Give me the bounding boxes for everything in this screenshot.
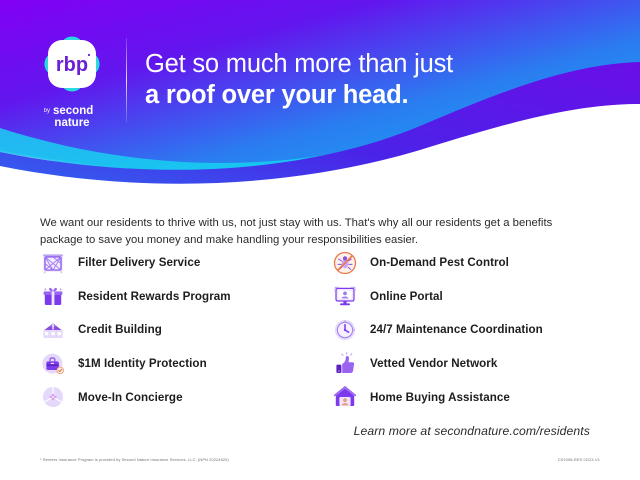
- benefit-label: Credit Building: [78, 323, 162, 336]
- benefit-filter-delivery-service: Filter Delivery Service: [40, 246, 332, 280]
- benefit-identity-protection: $1M Identity Protection: [40, 347, 332, 381]
- hero-divider: [126, 38, 127, 122]
- flyer-page: rbp by second nature Get so much more th…: [0, 0, 640, 480]
- rbp-badge-icon: rbp: [39, 31, 105, 97]
- headline-line-2: a roof over your head.: [145, 80, 453, 111]
- benefits-grid: Filter Delivery Service On-Demand Pest C…: [40, 246, 600, 414]
- footer-doc-code: CS1008-RES 02/24 V1: [558, 457, 600, 462]
- rbp-logo: rbp by second nature: [22, 31, 122, 129]
- intro-paragraph: We want our residents to thrive with us,…: [40, 215, 592, 249]
- benefit-label: Move-In Concierge: [78, 391, 183, 404]
- benefit-resident-rewards-program: Resident Rewards Program: [40, 280, 332, 314]
- hero-headline: Get so much more than just a roof over y…: [145, 49, 453, 111]
- credit-chart-icon: [40, 317, 66, 343]
- benefit-credit-building: Credit Building: [40, 313, 332, 347]
- wordmark-nature: nature: [54, 117, 89, 129]
- logo-rbp-text: rbp: [56, 54, 88, 76]
- benefit-home-buying-assistance: Home Buying Assistance: [332, 380, 600, 414]
- house-key-icon: [332, 384, 358, 410]
- wordmark-second: second: [53, 105, 93, 117]
- thumbs-up-icon: [332, 351, 358, 377]
- benefit-move-in-concierge: Move-In Concierge: [40, 380, 332, 414]
- benefit-label: $1M Identity Protection: [78, 357, 207, 370]
- gift-icon: [40, 283, 66, 309]
- hero-banner: rbp by second nature Get so much more th…: [0, 0, 640, 200]
- benefit-label: On-Demand Pest Control: [370, 256, 509, 269]
- benefit-label: Home Buying Assistance: [370, 391, 510, 404]
- hero-content: rbp by second nature Get so much more th…: [0, 0, 640, 160]
- logo-tm-mark: [88, 54, 90, 56]
- benefit-label: Filter Delivery Service: [78, 256, 200, 269]
- second-nature-wordmark-icon: by second nature: [36, 103, 108, 129]
- shield-briefcase-icon: [40, 351, 66, 377]
- footer-disclaimer: * Renters Insurance Program is provided …: [40, 457, 229, 462]
- headline-line-1: Get so much more than just: [145, 49, 453, 80]
- benefit-online-portal: Online Portal: [332, 280, 600, 314]
- benefit-label: Online Portal: [370, 290, 443, 303]
- benefit-label: Vetted Vendor Network: [370, 357, 497, 370]
- second-nature-wordmark: by second nature: [36, 103, 108, 129]
- monitor-icon: [332, 283, 358, 309]
- benefit-on-demand-pest-control: On-Demand Pest Control: [332, 246, 600, 280]
- air-filter-icon: [40, 250, 66, 276]
- no-pest-icon: [332, 250, 358, 276]
- benefit-label: Resident Rewards Program: [78, 290, 231, 303]
- clock-icon: [332, 317, 358, 343]
- benefit-maintenance-coordination: 24/7 Maintenance Coordination: [332, 313, 600, 347]
- concierge-icon: [40, 384, 66, 410]
- learn-more-text: Learn more at secondnature.com/residents: [354, 424, 590, 438]
- rbp-logo-mark: rbp: [39, 31, 105, 97]
- benefit-vetted-vendor-network: Vetted Vendor Network: [332, 347, 600, 381]
- benefit-label: 24/7 Maintenance Coordination: [370, 323, 543, 336]
- wordmark-by: by: [44, 108, 50, 114]
